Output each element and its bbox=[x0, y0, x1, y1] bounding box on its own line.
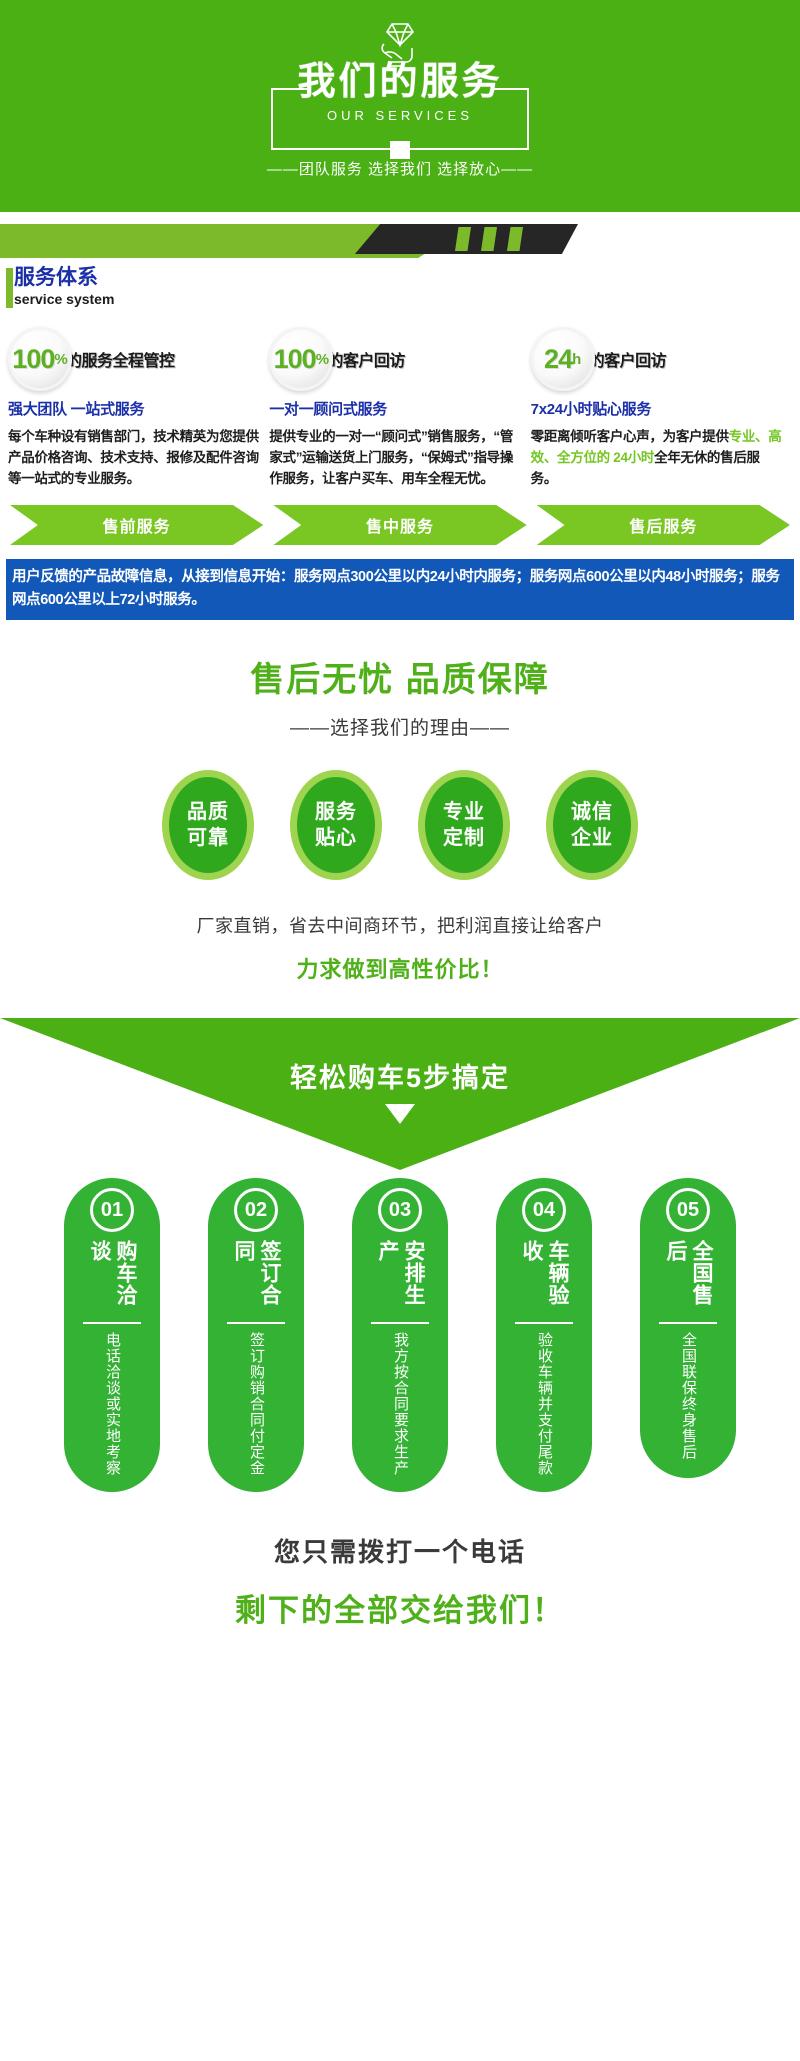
step-pill: 04 车辆验收 验收车辆并支付尾款 bbox=[496, 1178, 592, 1492]
column-body: 每个车种设有销售部门，技术精英为您提供产品价格咨询、技术支持、报修及配件咨询等一… bbox=[8, 426, 259, 489]
oval-line-1: 品质 bbox=[187, 799, 229, 825]
heading-tick bbox=[6, 268, 13, 308]
service-system-decor-bar bbox=[0, 224, 800, 258]
hero-tagline: ——团队服务 选择我们 选择放心—— bbox=[0, 158, 800, 179]
step-divider bbox=[227, 1322, 285, 1324]
oval-line-2: 可靠 bbox=[187, 825, 229, 851]
body-pre: 零距离倾听客户心声，为客户提供 bbox=[531, 429, 729, 444]
step-number: 05 bbox=[666, 1188, 710, 1232]
step-divider bbox=[371, 1322, 429, 1324]
direct-sale-line-2: 力求做到高性价比！ bbox=[0, 952, 800, 984]
badge-unit: h bbox=[572, 351, 581, 368]
step-pill: 02 签订合同 签订购销合同付定金 bbox=[208, 1178, 304, 1492]
column-body: 零距离倾听客户心声，为客户提供专业、高效、全方位的 24小时全年无休的售后服务。 bbox=[531, 426, 782, 489]
oval-line-1: 专业 bbox=[443, 799, 485, 825]
banner-title: 轻松购车5步搞定 bbox=[0, 1056, 800, 1095]
service-column-3: 24h 的客户回访 7x24小时贴心服务 零距离倾听客户心声，为客户提供专业、高… bbox=[531, 326, 792, 489]
step-number: 04 bbox=[522, 1188, 566, 1232]
step-number: 01 bbox=[90, 1188, 134, 1232]
step-description: 电话洽谈或实地考察 bbox=[101, 1332, 123, 1476]
step-description: 我方按合同要求生产 bbox=[389, 1332, 411, 1476]
step-pill: 01 购车洽谈 电话洽谈或实地考察 bbox=[64, 1178, 160, 1492]
arrow-pre-sale[interactable]: 售前服务 bbox=[10, 505, 263, 545]
step-item-1: 01 购车洽谈 电话洽谈或实地考察 bbox=[48, 1178, 176, 1492]
step-item-4: 04 车辆验收 验收车辆并支付尾款 bbox=[480, 1178, 608, 1492]
service-stage-arrows: 售前服务 售中服务 售后服务 bbox=[0, 505, 800, 545]
oval-line-1: 服务 bbox=[315, 799, 357, 825]
oval-quality: 品质 可靠 bbox=[162, 770, 254, 880]
service-response-notice: 用户反馈的产品故障信息，从接到信息开始：服务网点300公里以内24小时内服务；服… bbox=[6, 559, 794, 620]
step-title: 安排生产 bbox=[374, 1240, 426, 1310]
badge-caption: 的客户回访 bbox=[589, 347, 667, 371]
hours-badge: 24h bbox=[531, 327, 595, 391]
hero-title: 我们的服务 bbox=[0, 60, 800, 104]
badge-number: 24 bbox=[544, 346, 572, 373]
purchase-steps: 01 购车洽谈 电话洽谈或实地考察 02 签订合同 签订购销合同付定金 03 安… bbox=[0, 1178, 800, 1492]
step-title: 签订合同 bbox=[230, 1240, 282, 1310]
service-system-heading: 服务体系 service system bbox=[0, 266, 800, 312]
arrow-after-sale[interactable]: 售后服务 bbox=[537, 505, 790, 545]
badge-number: 100 bbox=[12, 346, 54, 373]
step-divider bbox=[515, 1322, 573, 1324]
arrow-in-sale[interactable]: 售中服务 bbox=[273, 505, 526, 545]
step-description: 签订购销合同付定金 bbox=[245, 1332, 267, 1476]
service-column-2: 100% 的客户回访 一对一顾问式服务 提供专业的一对一“顾问式”销售服务，“管… bbox=[269, 326, 530, 489]
step-description: 验收车辆并支付尾款 bbox=[533, 1332, 555, 1476]
quality-title: 售后无忧 品质保障 bbox=[0, 652, 800, 701]
footer-line-1: 您只需拨打一个电话 bbox=[0, 1532, 800, 1569]
badge-number: 100 bbox=[274, 346, 316, 373]
service-columns: 100% 的服务全程管控 强大团队 一站式服务 每个车种设有销售部门，技术精英为… bbox=[0, 326, 800, 489]
badge-caption: 的客户回访 bbox=[327, 347, 405, 371]
badge-row: 100% 的服务全程管控 bbox=[8, 326, 259, 392]
step-divider bbox=[83, 1322, 141, 1324]
direct-sale-line-1: 厂家直销，省去中间商环节，把利润直接让给客户 bbox=[0, 912, 800, 938]
percent-badge: 100% bbox=[269, 327, 333, 391]
percent-badge: 100% bbox=[8, 327, 72, 391]
column-title: 7x24小时贴心服务 bbox=[531, 398, 782, 419]
step-title: 车辆验收 bbox=[518, 1240, 570, 1310]
badge-caption: 的服务全程管控 bbox=[66, 347, 175, 371]
hero-banner: 我们的服务 OUR SERVICES ——团队服务 选择我们 选择放心—— bbox=[0, 0, 800, 212]
badge-unit: % bbox=[316, 351, 329, 368]
badge-row: 100% 的客户回访 bbox=[269, 326, 520, 392]
step-description: 全国联保终身售后 bbox=[677, 1332, 699, 1460]
caret-down-icon bbox=[385, 1104, 415, 1124]
step-item-2: 02 签订合同 签订购销合同付定金 bbox=[192, 1178, 320, 1492]
step-item-5: 05 全国售后 全国联保终身售后 bbox=[624, 1178, 752, 1492]
oval-line-1: 诚信 bbox=[571, 799, 613, 825]
oval-line-2: 定制 bbox=[443, 825, 485, 851]
step-number: 02 bbox=[234, 1188, 278, 1232]
quality-subtitle: ——选择我们的理由—— bbox=[0, 713, 800, 740]
badge-unit: % bbox=[54, 351, 67, 368]
oval-line-2: 贴心 bbox=[315, 825, 357, 851]
step-item-3: 03 安排生产 我方按合同要求生产 bbox=[336, 1178, 464, 1492]
column-body: 提供专业的一对一“顾问式”销售服务，“管家式”运输送货上门服务，“保姆式”指导操… bbox=[269, 426, 520, 489]
hero-subtitle: OUR SERVICES bbox=[0, 108, 800, 123]
step-divider bbox=[659, 1322, 717, 1324]
step-pill: 03 安排生产 我方按合同要求生产 bbox=[352, 1178, 448, 1492]
column-title: 强大团队 一站式服务 bbox=[8, 398, 259, 419]
footer-line-2: 剩下的全部交给我们！ bbox=[0, 1585, 800, 1630]
quality-oval-list: 品质 可靠 服务 贴心 专业 定制 诚信 企业 bbox=[0, 770, 800, 880]
step-pill: 05 全国售后 全国联保终身售后 bbox=[640, 1178, 736, 1478]
step-title: 全国售后 bbox=[662, 1240, 714, 1310]
oval-line-2: 企业 bbox=[571, 825, 613, 851]
column-title: 一对一顾问式服务 bbox=[269, 398, 520, 419]
service-column-1: 100% 的服务全程管控 强大团队 一站式服务 每个车种设有销售部门，技术精英为… bbox=[8, 326, 269, 489]
step-title: 购车洽谈 bbox=[86, 1240, 138, 1310]
service-system-title-en: service system bbox=[14, 290, 800, 308]
oval-integrity: 诚信 企业 bbox=[546, 770, 638, 880]
step-number: 03 bbox=[378, 1188, 422, 1232]
oval-service: 服务 贴心 bbox=[290, 770, 382, 880]
badge-row: 24h 的客户回访 bbox=[531, 326, 782, 392]
hero-notch bbox=[390, 141, 410, 159]
oval-professional: 专业 定制 bbox=[418, 770, 510, 880]
five-step-banner: 轻松购车5步搞定 bbox=[0, 1018, 800, 1170]
service-system-title-cn: 服务体系 bbox=[14, 266, 800, 290]
